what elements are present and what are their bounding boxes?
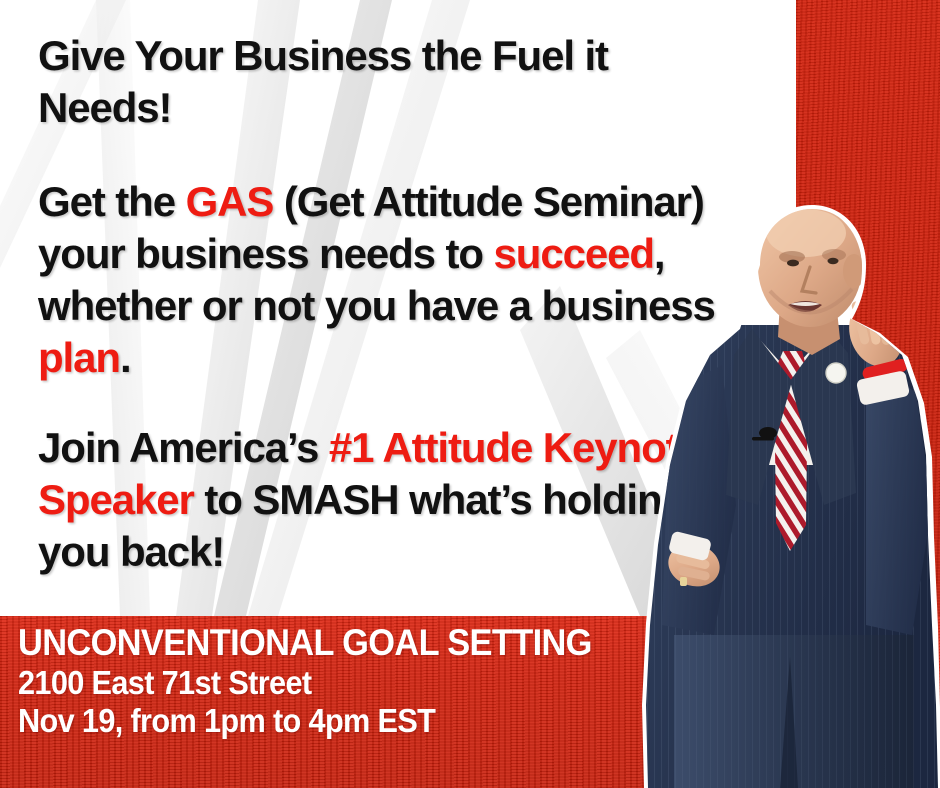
body1-highlight-gas: GAS <box>186 178 274 225</box>
event-details-text: UNCONVENTIONAL GOAL SETTING 2100 East 71… <box>18 622 718 740</box>
body1-highlight-succeed: succeed <box>494 230 654 277</box>
body2-segment-1: Join America’s <box>38 424 329 471</box>
body1-highlight-plan: plan <box>38 334 120 381</box>
speaker-photo <box>640 205 940 788</box>
event-datetime: Nov 19, from 1pm to 4pm EST <box>18 702 669 740</box>
headline: Give Your Business the Fuel it Needs! <box>38 30 738 134</box>
body1-segment-4: . <box>120 334 131 381</box>
body1-segment-1: Get the <box>38 178 186 225</box>
body-paragraph-2: Join America’s #1 Attitude Keynote Speak… <box>38 422 738 578</box>
event-title: UNCONVENTIONAL GOAL SETTING <box>18 622 669 664</box>
body-paragraph-1: Get the GAS (Get Attitude Seminar) your … <box>38 176 738 384</box>
promotional-poster: Give Your Business the Fuel it Needs! Ge… <box>0 0 940 788</box>
poster-copy: Give Your Business the Fuel it Needs! Ge… <box>38 30 738 578</box>
event-address: 2100 East 71st Street <box>18 664 669 702</box>
